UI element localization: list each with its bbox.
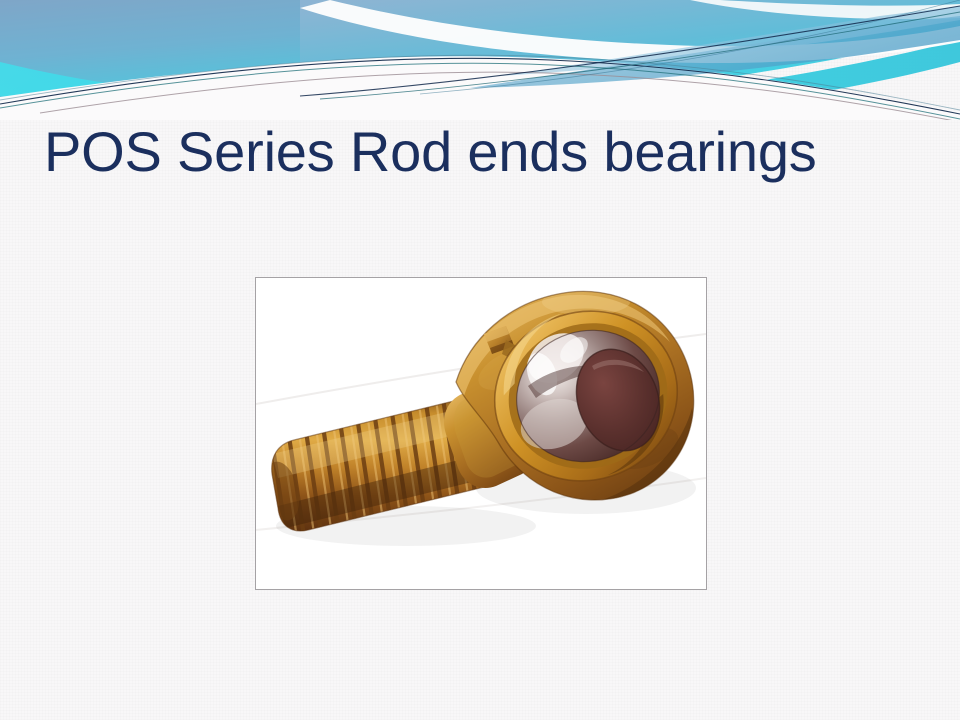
header-wave-decoration xyxy=(0,0,960,120)
presentation-slide: POS Series Rod ends bearings xyxy=(0,0,960,720)
product-image-frame[interactable] xyxy=(255,277,707,590)
rod-end-bearing-image xyxy=(256,278,706,589)
page-title: POS Series Rod ends bearings xyxy=(44,123,817,182)
title-placeholder[interactable]: POS Series Rod ends bearings xyxy=(44,112,916,192)
